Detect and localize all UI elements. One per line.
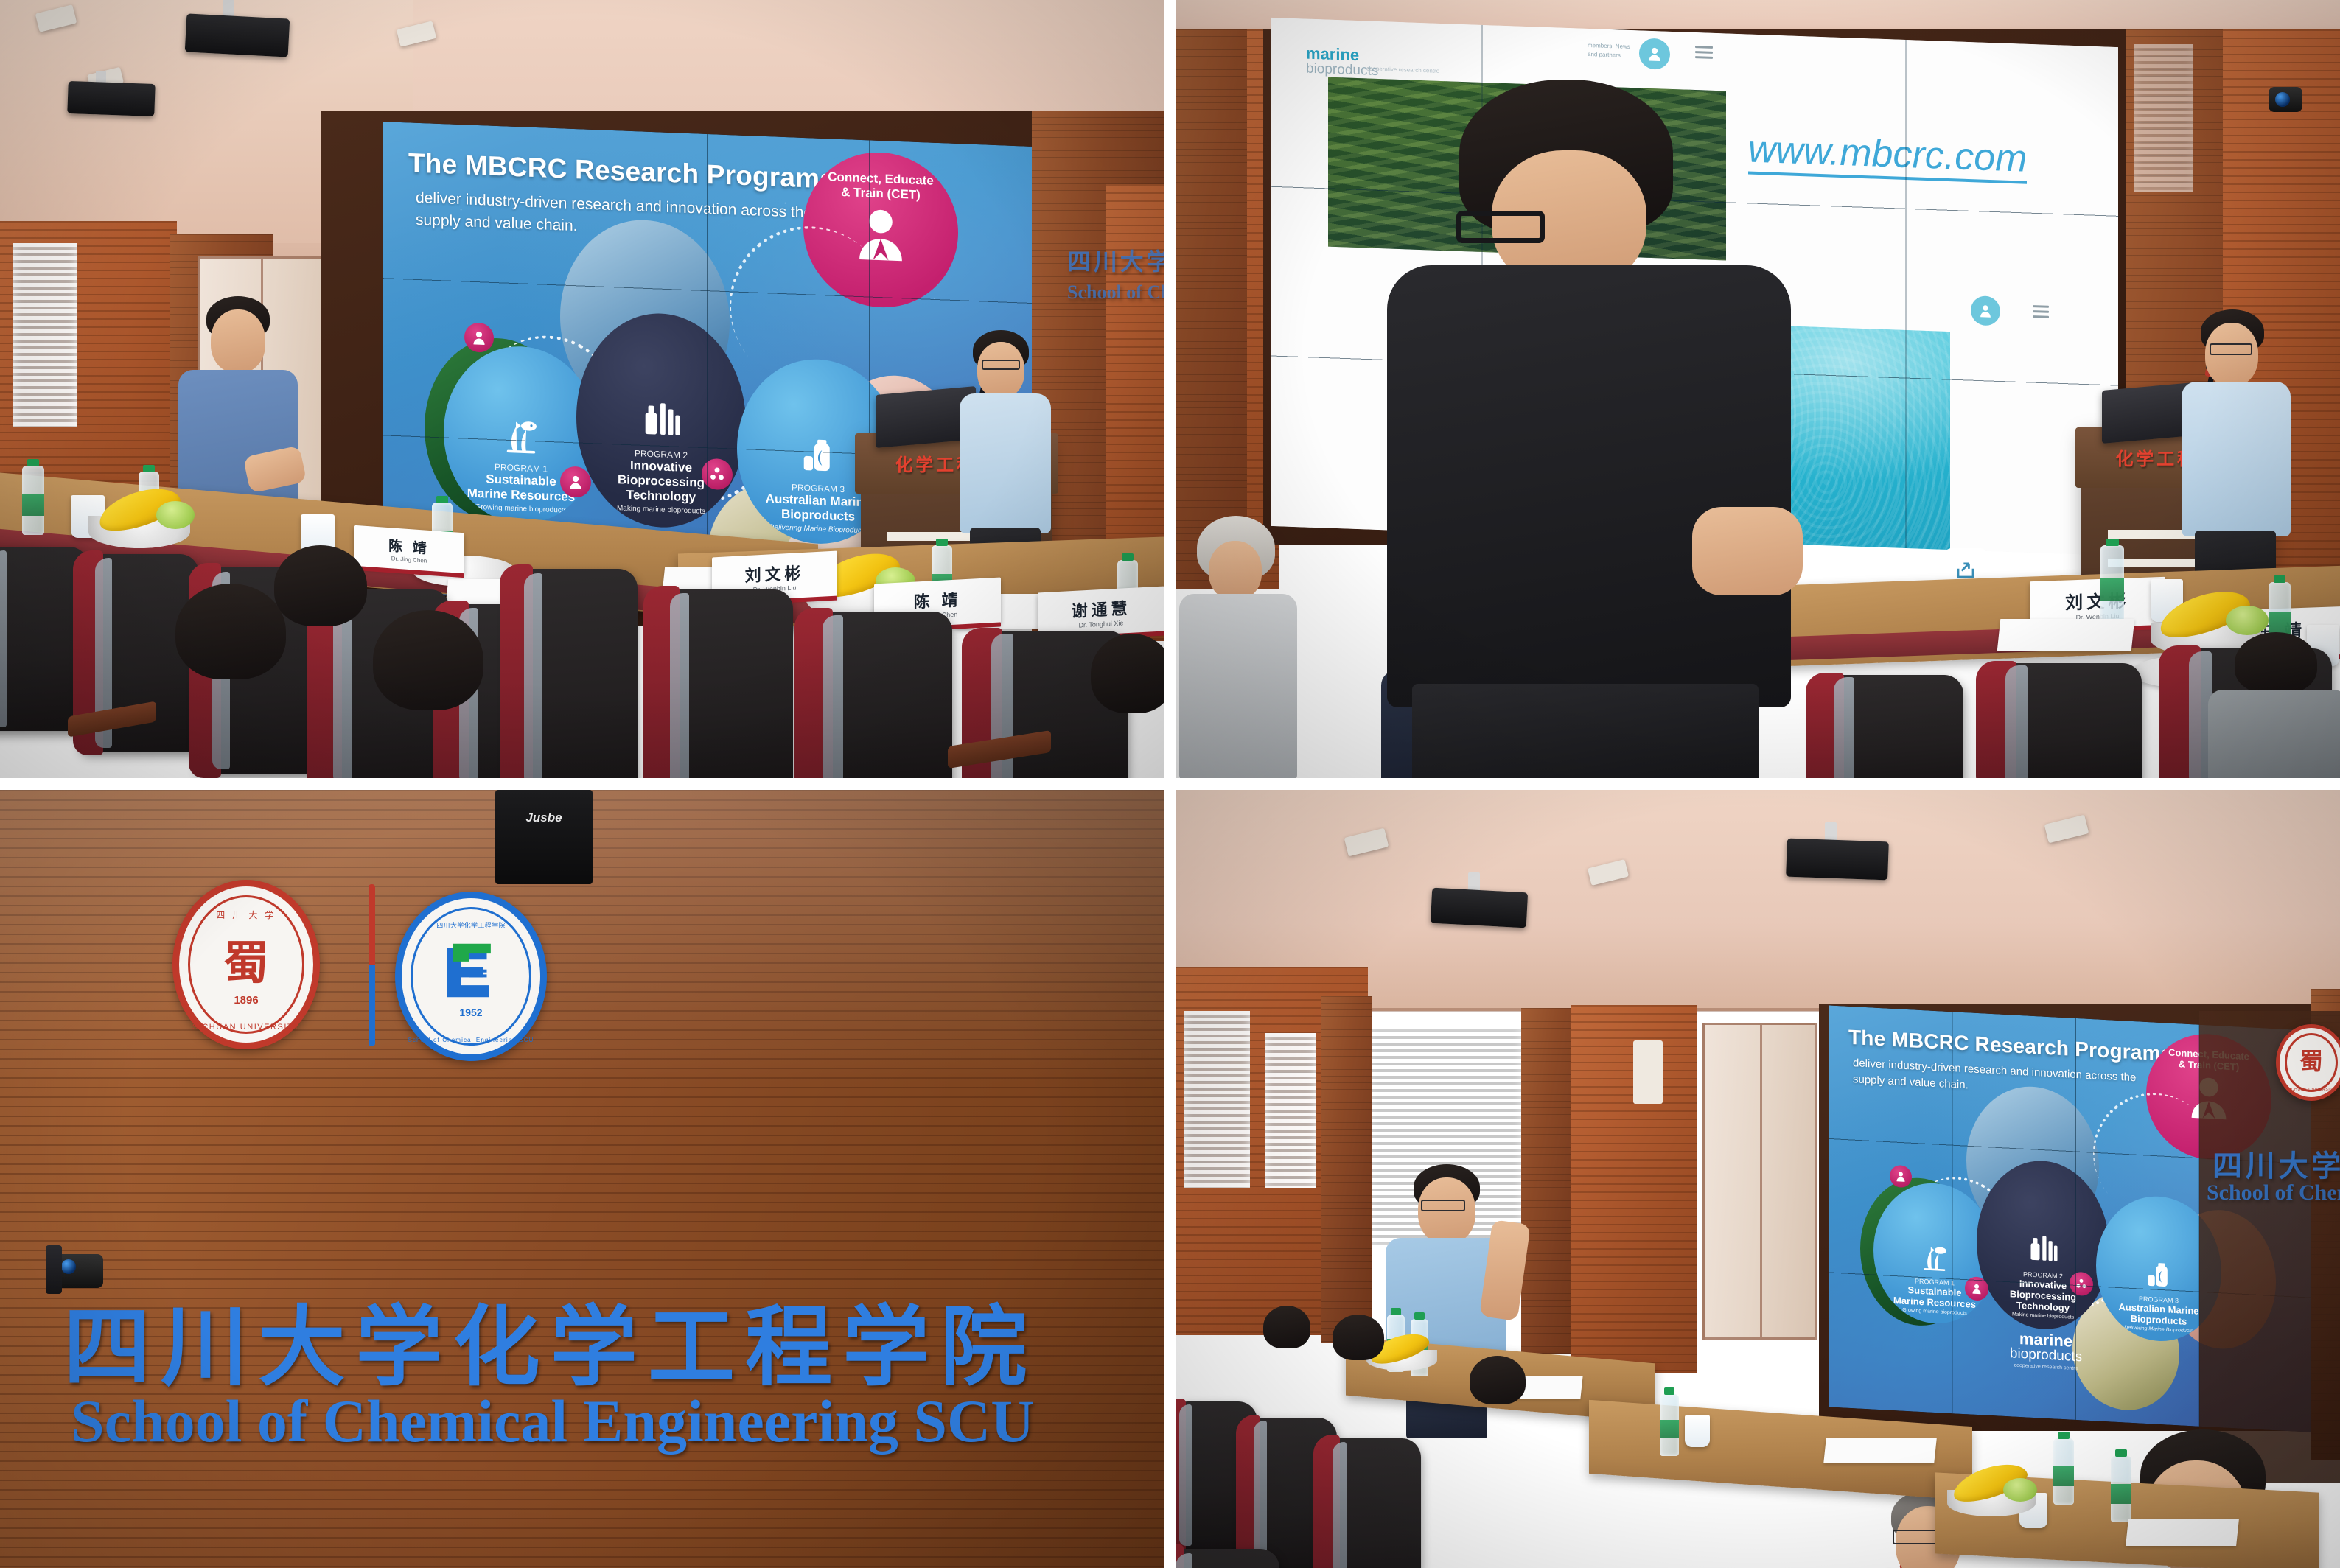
audience-head (1333, 1315, 1384, 1360)
program-1-name-2: Marine Resources (467, 486, 575, 505)
program-2-name-3: Technology (626, 488, 696, 505)
connector-icon-2 (1965, 1276, 1988, 1301)
bioreactor-icon-2 (2025, 1228, 2061, 1266)
namecard-4: 陈 靖 Dr. Jing Chen (354, 525, 464, 574)
grapes-2 (2003, 1478, 2037, 1502)
notepaper (1997, 619, 2135, 651)
connector-icon-1 (464, 322, 494, 353)
panel-bottom-left: Jusbe 四 川 大 学 蜀 1896 SICHUAN UNIVERSITY … (0, 784, 1170, 1568)
molecule-icon (709, 466, 725, 483)
program-2-tagline: Making marine bioproducts (617, 504, 705, 516)
projector-2 (67, 81, 155, 116)
worker-icon-2 (567, 474, 584, 491)
window-blind-left (13, 243, 77, 427)
lecturer-glasses (2210, 343, 2252, 355)
panel-bottom-right: The MBCRC Research Programs deliver indu… (1170, 784, 2340, 1568)
program-3-name-2-l2: Bioproducts (2131, 1313, 2187, 1327)
scu-seal-visible: 四 川 大 学 蜀 1896 SICHUAN UNIVERSITY (172, 880, 320, 1049)
supplement-bottle-icon (797, 434, 839, 477)
audience-head (1209, 541, 1262, 600)
window-blind-2 (1265, 1033, 1316, 1188)
program-3-name-2: Bioproducts (781, 507, 855, 525)
audience-head (274, 545, 367, 626)
sce-seal-cn: 四川大学化学工程学院 (402, 920, 540, 930)
scene-bottom-right: The MBCRC Research Programs deliver indu… (1176, 790, 2340, 1568)
water-bottle-3[interactable] (1660, 1394, 1679, 1456)
projector (1431, 888, 1528, 928)
wall-sign-chinese: 四川大学化学工程学院 (63, 1276, 1038, 1402)
seaweed-fish-icon (500, 413, 542, 456)
connector-icon-2 (560, 466, 591, 498)
column-2 (1521, 1008, 1576, 1354)
lecturer-torso (960, 393, 1051, 533)
wall-notice (1633, 1040, 1663, 1104)
lecturer-torso (2182, 382, 2291, 536)
sce-seal-en: School of Chemical Engineering SCU (402, 1037, 540, 1043)
notepaper-3 (2126, 1519, 2239, 1546)
door-right (1702, 1023, 1817, 1340)
projector (185, 13, 290, 57)
right-wall-sign-en: School of Chem (2207, 1180, 2340, 1205)
sce-seal-year: 1952 (402, 1007, 540, 1018)
audience-chair (653, 589, 793, 778)
scu-seal-cn: 四 川 大 学 (179, 909, 313, 921)
ceiling-camera (2269, 87, 2302, 112)
program-2-name-2-l3: Technology (2016, 1300, 2070, 1314)
web-members-badge-2[interactable] (1971, 295, 2000, 326)
program-1-tagline: Growing marine bioproducts (475, 503, 567, 515)
worker-icon (471, 329, 487, 346)
hamburger-menu-icon-2[interactable] (2033, 305, 2049, 318)
audience-head (1470, 1356, 1526, 1404)
audience-chair (805, 612, 952, 778)
web-members-badge[interactable] (1639, 38, 1670, 69)
audience-head (1263, 1306, 1310, 1348)
audience-head (373, 610, 483, 710)
molecule-icon (2075, 1278, 2087, 1290)
supplement-bottle-icon-2 (2143, 1259, 2174, 1291)
student-torso (1387, 265, 1791, 707)
worker-icon (1895, 1170, 1907, 1183)
student-glasses (1456, 211, 1545, 243)
grapes-1 (156, 501, 195, 529)
audience-hair (2235, 632, 2317, 694)
water-bottle-1[interactable] (22, 466, 44, 535)
scene-bottom-left: Jusbe 四 川 大 学 蜀 1896 SICHUAN UNIVERSITY … (0, 790, 1164, 1568)
cet-label-line2: & Train (CET) (841, 185, 921, 203)
audience-head (1091, 634, 1164, 713)
program-2-number: PROGRAM 2 (635, 448, 688, 461)
grapes (2226, 606, 2269, 635)
namecard-2-cn: 陈 靖 (914, 587, 962, 612)
namecard-3-cn: 谢通慧 (1072, 595, 1131, 622)
lecturer-glasses (982, 360, 1020, 370)
sce-seal-glyph (439, 942, 503, 999)
photo-collage: 四川大学 School of Chem The MBCRC Research P… (0, 0, 2340, 1568)
people-icon (1646, 46, 1663, 63)
web-badge-label-2: and partners (1588, 51, 1621, 59)
sce-seal: 四川大学化学工程学院 1952 School of Chemical Engin… (395, 892, 547, 1061)
camera-mount (46, 1245, 62, 1294)
program-3-number: PROGRAM 3 (792, 482, 845, 494)
student-arm (1692, 507, 1803, 595)
worker-icon-2 (1971, 1283, 1983, 1295)
audience-chair (1816, 675, 1963, 778)
namecard-4-cn: 陈 靖 (388, 535, 430, 558)
panel-top-left: 四川大学 School of Chem The MBCRC Research P… (0, 0, 1170, 784)
namecard-1-cn: 刘文彬 (745, 560, 805, 587)
person-audience-white-hair (1179, 516, 1297, 778)
connector-icon-3 (2070, 1272, 2093, 1297)
panel-top-right: marine bioproducts cooperative research … (1170, 0, 2340, 784)
water-bottle-1[interactable] (2100, 545, 2124, 622)
wall-speaker: Jusbe (495, 790, 593, 884)
column-1 (1321, 996, 1372, 1343)
bioreactor-icon (638, 393, 684, 441)
connector-icon-3 (702, 458, 733, 491)
person-student-standing (1383, 80, 1795, 778)
scu-seal-glyph: 蜀 (223, 925, 269, 992)
connector-icon-1 (1890, 1165, 1912, 1189)
scu-seal-year: 1896 (179, 994, 313, 1007)
questioner-glasses (1421, 1200, 1465, 1211)
audience-chair (509, 569, 638, 778)
audience-chair (1176, 1549, 1279, 1568)
scene-top-left: 四川大学 School of Chem The MBCRC Research P… (0, 0, 1164, 778)
audience-torso (2208, 690, 2340, 778)
wall-sign-cn-partial: 四川大学 (1067, 243, 1164, 277)
water-bottle-4[interactable] (2053, 1438, 2074, 1505)
people-icon-2 (1978, 303, 1993, 318)
window-blind-1 (1184, 1011, 1250, 1188)
scu-seal-right-en: SICHUAN UNIVERSITY (2280, 1088, 2340, 1092)
notepaper-2 (1823, 1438, 1937, 1463)
wall-sign-english: School of Chemical Engineering SCU (71, 1387, 1034, 1456)
person-lecturer-podium (2176, 309, 2301, 604)
scu-seal-right-glyph: 蜀 (2299, 1043, 2323, 1077)
mbcrc-logo-2: marine bioproducts cooperative research … (1987, 1329, 2105, 1373)
program-1-number: PROGRAM 1 (495, 462, 548, 475)
lecturer-glasses (1893, 1530, 1941, 1544)
scu-seal-en: SICHUAN UNIVERSITY (179, 1023, 313, 1032)
audience-torso (1179, 594, 1297, 778)
scene-top-right: marine bioproducts cooperative research … (1176, 0, 2340, 778)
lecturer-head (977, 342, 1024, 398)
speaker-brand-label: Jusbe (495, 811, 593, 825)
window-blind-right (2134, 44, 2193, 192)
student-lower (1412, 684, 1759, 778)
person-audience-seated-right (2208, 632, 2340, 778)
water-bottle-5[interactable] (2111, 1456, 2131, 1522)
seaweed-fish-icon-2 (1919, 1241, 1950, 1273)
hamburger-menu-icon[interactable] (1695, 46, 1713, 59)
audience-chair (1321, 1438, 1421, 1568)
sce-emblem-icon (439, 942, 503, 999)
audience-chair (1987, 663, 2142, 778)
projector-2 (1786, 839, 1889, 881)
mbcrc-web-logo: marine bioproducts (1306, 46, 1378, 78)
web-badge-label-1: members, News (1588, 42, 1630, 50)
share-icon (1955, 559, 1977, 581)
program-3-tagline: Delivering Marine Bioproducts (769, 523, 867, 535)
paper-cup-1[interactable] (1685, 1415, 1710, 1447)
right-wall-sign-cn: 四川大学 (2212, 1142, 2340, 1185)
namecard-3-en: Dr. Tonghui Xie (1079, 619, 1124, 629)
audience-head (175, 584, 286, 679)
presenter-head (211, 309, 265, 373)
seal-divider (369, 884, 375, 1046)
scu-seal-right-wall: 蜀 SICHUAN UNIVERSITY (2276, 1024, 2340, 1101)
wall-sign-en-partial: School of Chem (1067, 281, 1164, 304)
